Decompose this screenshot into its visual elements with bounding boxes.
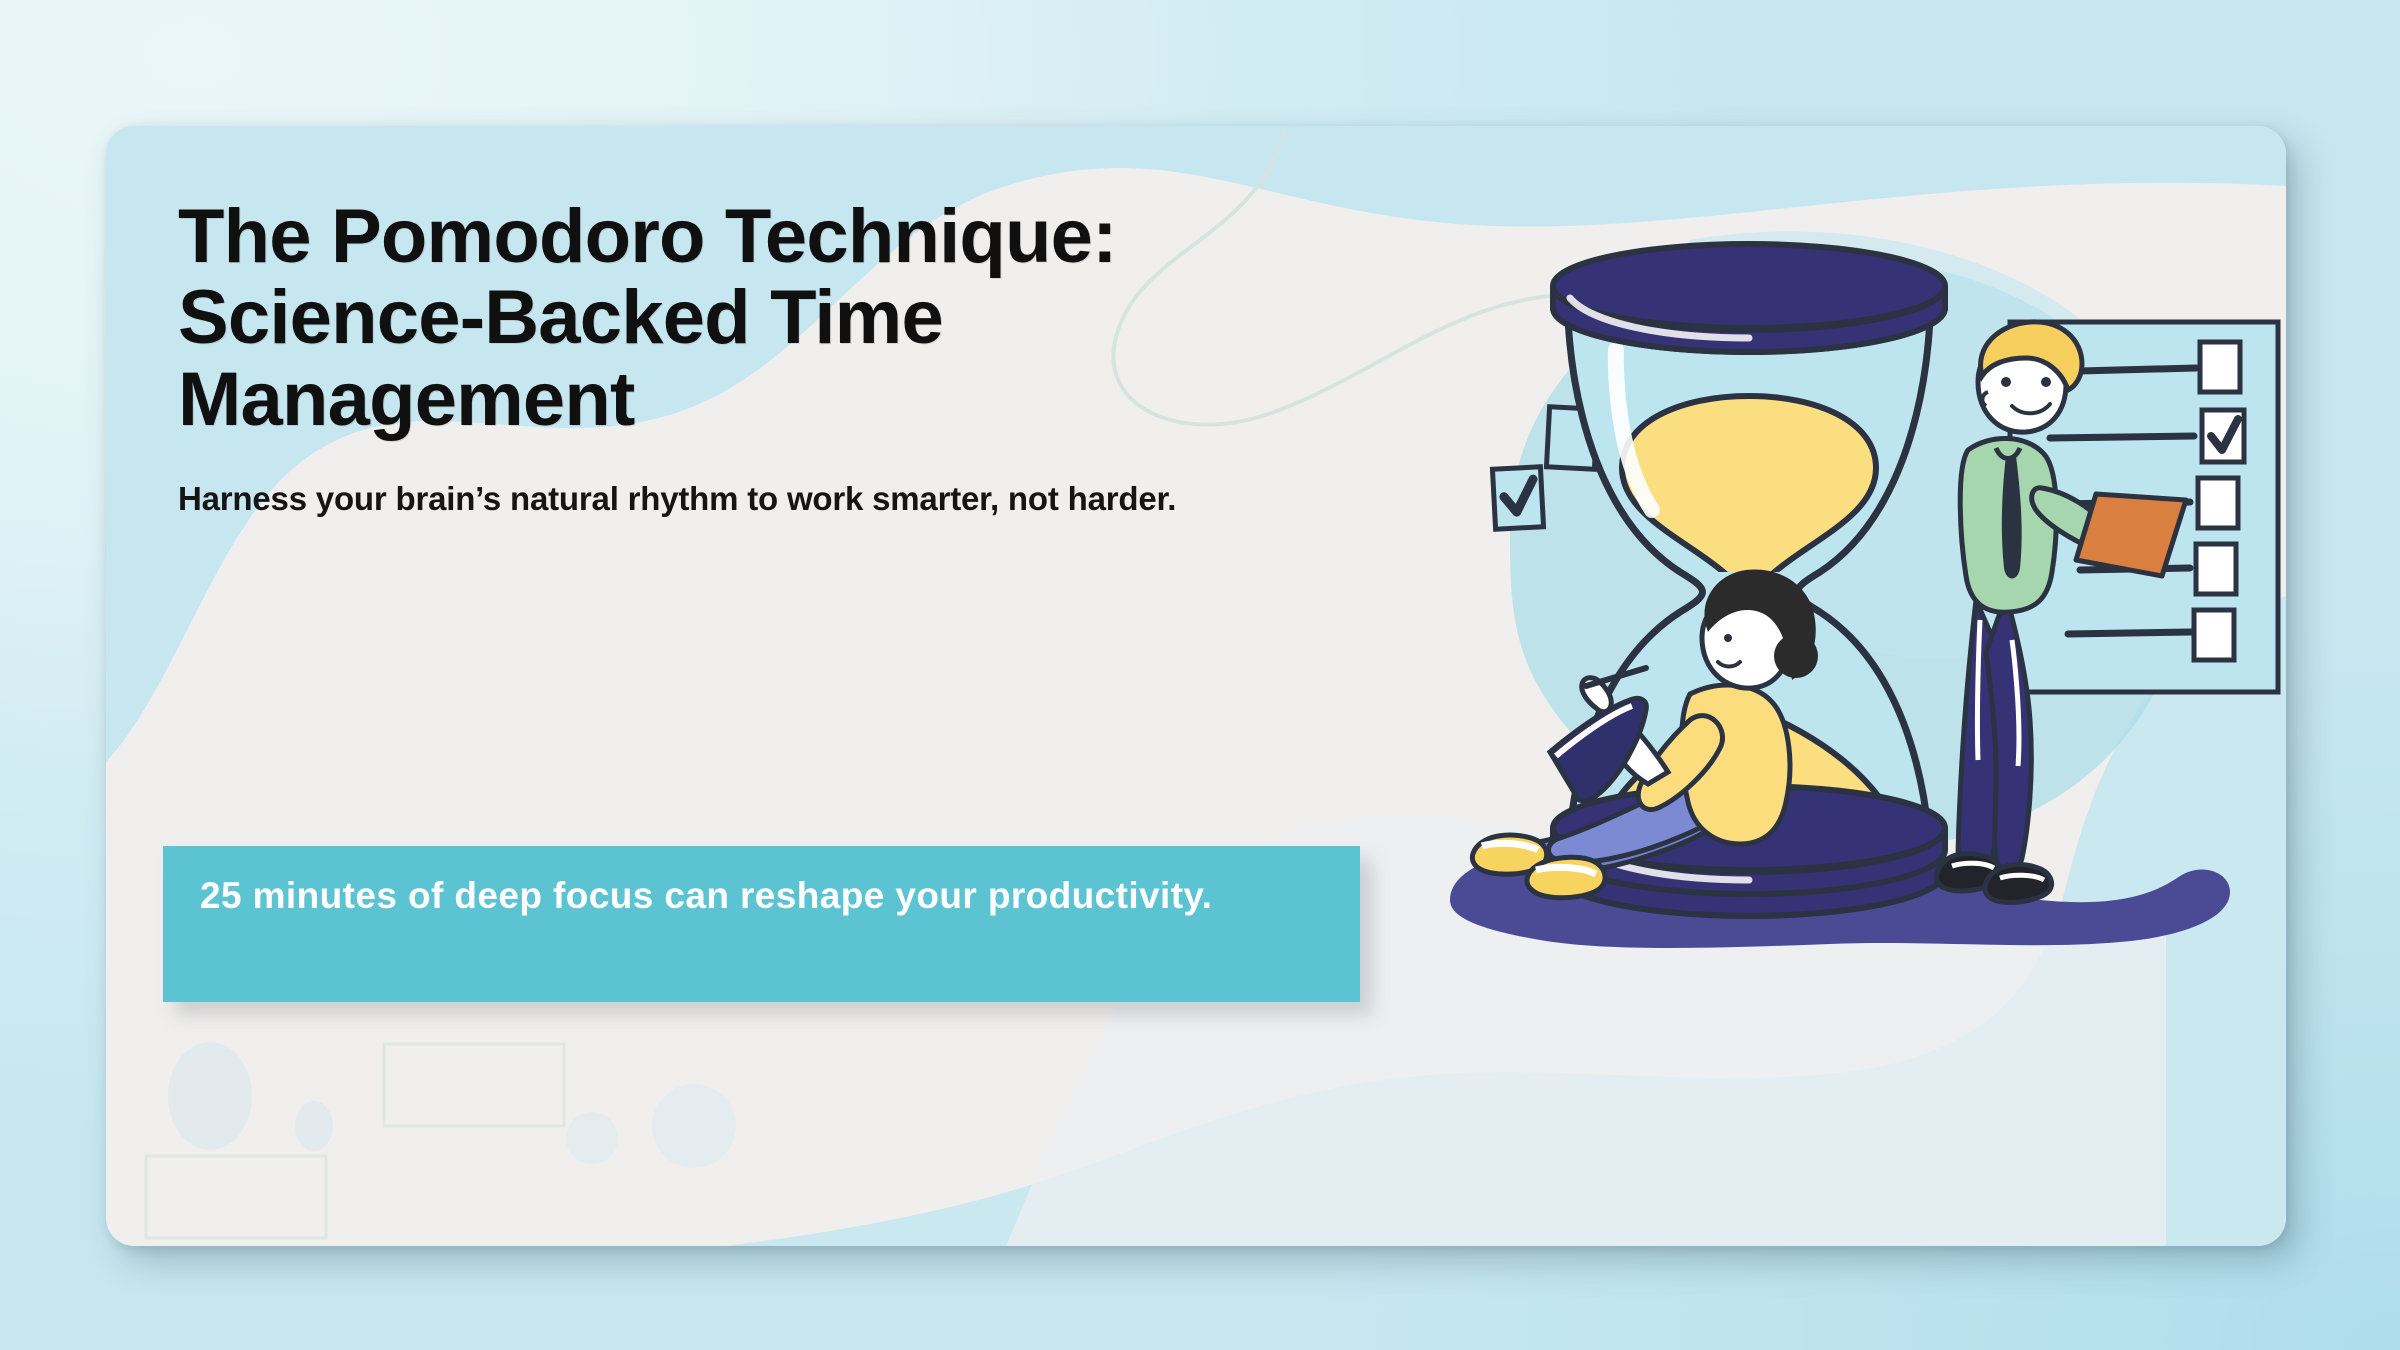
hourglass-top-cap	[1553, 244, 1945, 352]
standing-shoe-right	[1985, 865, 2052, 903]
illustration-svg	[1390, 200, 2286, 1060]
board-checkbox-3	[2198, 478, 2238, 528]
floating-checkbox-5	[1492, 467, 1543, 529]
hero-illustration	[1390, 200, 2286, 1060]
ghost-circle-small-center	[566, 1112, 618, 1164]
ghost-rect-top	[384, 1044, 564, 1126]
callout-text: 25 minutes of deep focus can reshape you…	[200, 872, 1320, 919]
ghost-rect-bottom	[146, 1156, 326, 1238]
page-canvas: The Pomodoro Technique: Science-Backed T…	[0, 0, 2400, 1350]
hero-text-column: The Pomodoro Technique: Science-Backed T…	[178, 196, 1408, 520]
ghost-circle-large-center	[652, 1084, 736, 1168]
ghost-circle-large-left	[168, 1042, 252, 1150]
board-checkbox-4	[2196, 544, 2236, 594]
seated-shoe-front	[1527, 857, 1605, 898]
page-subtitle: Harness your brain’s natural rhythm to w…	[178, 478, 1338, 520]
board-checkbox-5	[2194, 610, 2234, 660]
board-checkbox-2-checked	[2202, 410, 2244, 462]
page-title: The Pomodoro Technique: Science-Backed T…	[178, 196, 1408, 440]
board-checkbox-1	[2200, 342, 2240, 392]
highlight-callout-banner: 25 minutes of deep focus can reshape you…	[163, 846, 1360, 1002]
ghost-circle-small-left	[295, 1101, 333, 1151]
